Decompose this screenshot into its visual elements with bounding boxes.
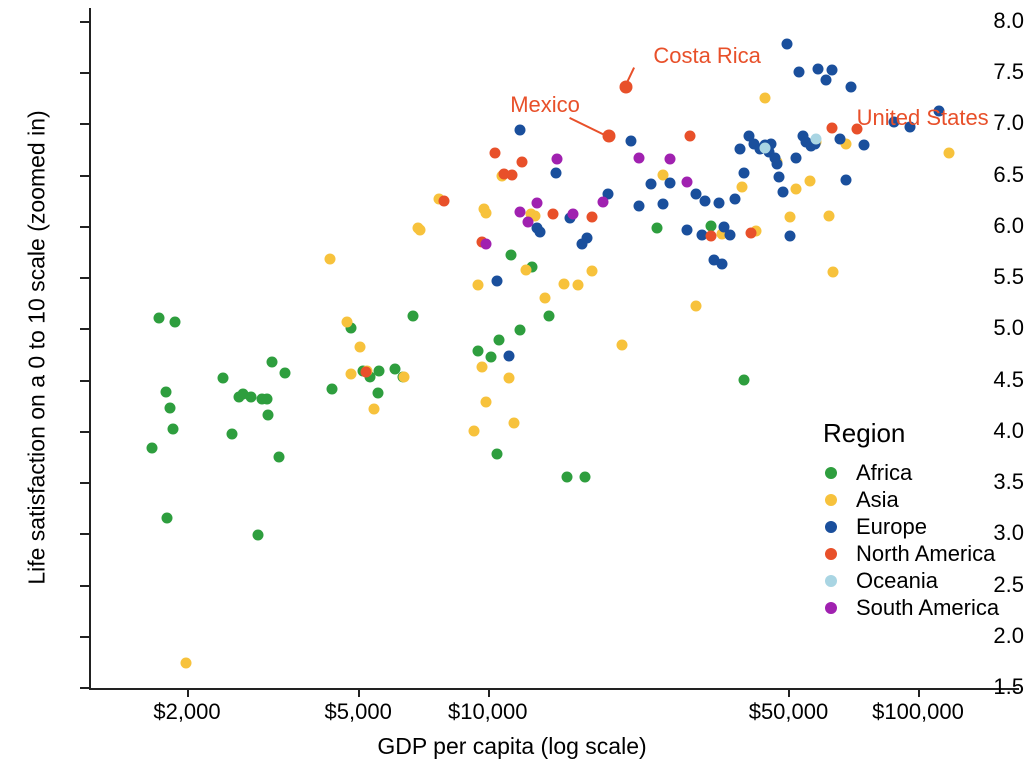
data-point-africa	[273, 452, 284, 463]
data-point-europe	[503, 351, 514, 362]
data-point-south-america	[531, 198, 542, 209]
data-point-south-america	[568, 208, 579, 219]
data-point-north-america	[684, 130, 695, 141]
data-point-africa	[473, 345, 484, 356]
data-point-south-america	[664, 154, 675, 165]
y-tick-label: 2.0	[956, 625, 1024, 647]
data-point-asia	[790, 184, 801, 195]
legend-swatch-icon	[825, 602, 837, 614]
legend-swatch-icon	[825, 494, 837, 506]
x-tick-mark	[187, 688, 189, 697]
data-point-europe	[724, 230, 735, 241]
data-point-south-america	[681, 176, 692, 187]
data-point-south-america	[634, 153, 645, 164]
data-point-europe	[812, 64, 823, 75]
data-point-africa	[491, 449, 502, 460]
data-point-asia	[508, 417, 519, 428]
legend-item-asia[interactable]: Asia	[820, 486, 999, 513]
data-point-north-america	[438, 196, 449, 207]
data-point-asia	[804, 175, 815, 186]
data-point-africa	[327, 383, 338, 394]
data-point-north-america	[490, 148, 501, 159]
data-point-north-america	[516, 157, 527, 168]
data-point-africa	[217, 372, 228, 383]
data-point-europe	[515, 124, 526, 135]
data-point-africa	[505, 249, 516, 260]
x-tick-label: $10,000	[448, 701, 528, 723]
data-point-africa	[162, 512, 173, 523]
data-point-north-america	[548, 208, 559, 219]
y-tick-label: 8.0	[956, 10, 1024, 32]
data-point-africa	[170, 317, 181, 328]
data-point-europe	[646, 178, 657, 189]
data-point-asia	[480, 397, 491, 408]
data-point-africa	[407, 311, 418, 322]
data-point-europe	[534, 227, 545, 238]
data-point-oceania	[759, 143, 770, 154]
data-point-asia	[587, 266, 598, 277]
y-tick-mark	[80, 226, 89, 228]
legend-item-europe[interactable]: Europe	[820, 513, 999, 540]
data-point-europe	[794, 67, 805, 78]
data-point-europe	[781, 38, 792, 49]
data-point-south-america	[515, 206, 526, 217]
data-point-africa	[168, 423, 179, 434]
data-point-asia	[469, 425, 480, 436]
legend-item-label: Oceania	[856, 570, 938, 592]
data-point-asia	[414, 225, 425, 236]
x-axis-label: GDP per capita (log scale)	[0, 733, 1024, 760]
y-tick-mark	[80, 585, 89, 587]
legend-item-africa[interactable]: Africa	[820, 459, 999, 486]
x-tick-label: $100,000	[872, 701, 964, 723]
data-point-europe	[790, 153, 801, 164]
y-tick-mark	[80, 431, 89, 433]
data-point-asia	[691, 300, 702, 311]
data-point-europe	[859, 139, 870, 150]
x-tick-label: $2,000	[153, 701, 220, 723]
y-tick-mark	[80, 380, 89, 382]
y-tick-mark	[80, 328, 89, 330]
data-point-africa	[493, 334, 504, 345]
data-point-south-america	[597, 197, 608, 208]
y-tick-mark	[80, 123, 89, 125]
data-point-europe	[716, 258, 727, 269]
data-point-south-america	[522, 216, 533, 227]
x-tick-mark	[918, 688, 920, 697]
x-tick-label: $50,000	[749, 701, 829, 723]
data-point-europe	[491, 276, 502, 287]
y-tick-mark	[80, 636, 89, 638]
data-point-oceania	[811, 133, 822, 144]
legend-item-label: North America	[856, 543, 995, 565]
x-tick-mark	[488, 688, 490, 697]
data-point-asia	[477, 362, 488, 373]
data-point-asia	[616, 339, 627, 350]
data-point-europe	[739, 167, 750, 178]
legend-item-label: South America	[856, 597, 999, 619]
data-point-europe	[714, 198, 725, 209]
data-point-africa	[262, 394, 273, 405]
data-point-south-america	[552, 154, 563, 165]
legend: Region AfricaAsiaEuropeNorth AmericaOcea…	[820, 418, 999, 621]
data-point-europe	[657, 199, 668, 210]
data-point-europe	[634, 201, 645, 212]
y-tick-mark	[80, 21, 89, 23]
y-tick-label: 5.5	[956, 266, 1024, 288]
data-point-europe	[777, 187, 788, 198]
data-point-africa	[739, 374, 750, 385]
data-point-africa	[544, 311, 555, 322]
data-point-asia	[503, 372, 514, 383]
data-point-europe	[835, 133, 846, 144]
legend-swatch-icon	[825, 521, 837, 533]
y-tick-label: 7.5	[956, 61, 1024, 83]
data-point-north-america	[360, 367, 371, 378]
legend-swatch-icon	[825, 548, 837, 560]
y-axis-label: Life satisfaction on a 0 to 10 scale (zo…	[24, 3, 51, 693]
data-point-asia	[943, 148, 954, 159]
data-point-europe	[785, 231, 796, 242]
data-point-africa	[227, 428, 238, 439]
chart-root: 1.52.02.53.03.54.04.55.05.56.06.57.07.58…	[0, 0, 1024, 768]
data-point-africa	[486, 352, 497, 363]
y-tick-label: 4.5	[956, 369, 1024, 391]
y-tick-mark	[80, 72, 89, 74]
data-point-africa	[280, 368, 291, 379]
data-point-africa	[515, 325, 526, 336]
y-tick-mark	[80, 277, 89, 279]
legend-swatch-icon	[825, 467, 837, 479]
data-point-africa	[165, 403, 176, 414]
x-tick-mark	[358, 688, 360, 697]
x-tick-label: $5,000	[325, 701, 392, 723]
data-point-asia	[540, 292, 551, 303]
y-tick-mark	[80, 482, 89, 484]
legend-item-north-america[interactable]: North America	[820, 540, 999, 567]
data-point-asia	[823, 210, 834, 221]
data-point-africa	[652, 222, 663, 233]
data-point-north-america	[826, 122, 837, 133]
data-point-north-america	[746, 228, 757, 239]
data-point-europe	[700, 196, 711, 207]
data-point-europe	[664, 177, 675, 188]
data-point-africa	[579, 471, 590, 482]
data-point-europe	[846, 81, 857, 92]
data-point-europe	[550, 167, 561, 178]
data-point-africa	[147, 443, 158, 454]
data-point-asia	[480, 207, 491, 218]
data-point-asia	[355, 341, 366, 352]
data-point-asia	[369, 404, 380, 415]
data-point-europe	[826, 65, 837, 76]
data-point-europe	[773, 171, 784, 182]
data-point-north-america	[705, 231, 716, 242]
y-tick-label: 5.0	[956, 317, 1024, 339]
data-point-europe	[820, 75, 831, 86]
data-point-europe	[840, 174, 851, 185]
data-point-asia	[325, 253, 336, 264]
data-point-asia	[521, 264, 532, 275]
data-point-europe	[734, 144, 745, 155]
data-point-africa	[161, 386, 172, 397]
y-axis-line	[89, 8, 91, 690]
data-point-africa	[262, 410, 273, 421]
legend-item-label: Africa	[856, 462, 912, 484]
data-point-asia	[345, 369, 356, 380]
data-point-europe	[625, 135, 636, 146]
data-point-north-america	[507, 169, 518, 180]
data-point-europe	[729, 194, 740, 205]
data-point-asia	[785, 211, 796, 222]
data-point-south-america	[480, 239, 491, 250]
data-point-europe	[681, 225, 692, 236]
data-point-asia	[572, 280, 583, 291]
legend-entries: AfricaAsiaEuropeNorth AmericaOceaniaSout…	[820, 459, 999, 621]
data-point-asia	[759, 92, 770, 103]
data-point-africa	[246, 392, 257, 403]
data-point-asia	[399, 371, 410, 382]
data-point-europe	[581, 233, 592, 244]
data-point-asia	[181, 658, 192, 669]
data-point-africa	[373, 366, 384, 377]
data-point-north-america	[587, 211, 598, 222]
data-point-asia	[828, 267, 839, 278]
y-tick-mark	[80, 533, 89, 535]
data-point-africa	[372, 387, 383, 398]
x-axis-line	[89, 688, 1019, 690]
legend-item-oceania[interactable]: Oceania	[820, 567, 999, 594]
y-tick-mark	[80, 175, 89, 177]
data-point-europe	[771, 159, 782, 170]
legend-item-label: Europe	[856, 516, 927, 538]
data-point-asia	[737, 181, 748, 192]
legend-swatch-icon	[825, 575, 837, 587]
data-point-africa	[266, 357, 277, 368]
annotation-label-mexico: Mexico	[510, 94, 580, 116]
y-tick-label: 6.5	[956, 164, 1024, 186]
data-point-asia	[341, 317, 352, 328]
data-point-africa	[562, 471, 573, 482]
data-point-africa	[252, 530, 263, 541]
x-tick-mark	[788, 688, 790, 697]
annotation-label-united-states: United States	[857, 107, 989, 129]
legend-item-label: Asia	[856, 489, 899, 511]
data-point-asia	[473, 280, 484, 291]
data-point-africa	[153, 313, 164, 324]
legend-item-south-america[interactable]: South America	[820, 594, 999, 621]
data-point-asia	[558, 279, 569, 290]
legend-title: Region	[823, 418, 999, 449]
y-tick-mark	[80, 687, 89, 689]
annotation-label-costa-rica: Costa Rica	[653, 45, 761, 67]
y-tick-label: 1.5	[956, 676, 1024, 698]
y-tick-label: 6.0	[956, 215, 1024, 237]
